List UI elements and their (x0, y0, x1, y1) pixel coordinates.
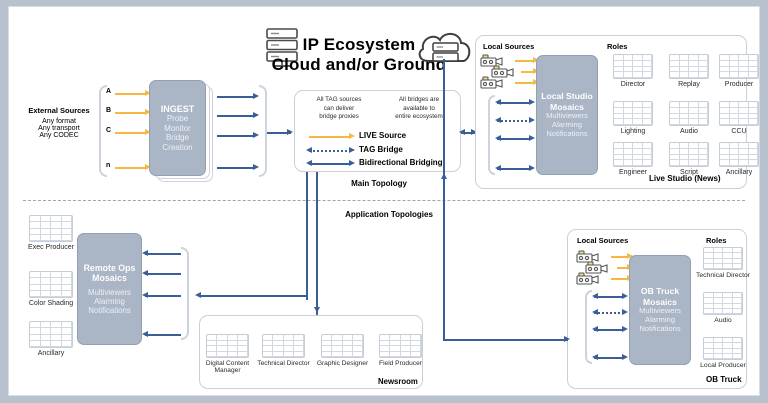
legend-swatch-bidirectional (309, 163, 351, 165)
trunk-to-newsroom-head (314, 307, 320, 313)
role-grid-icon (379, 334, 422, 358)
legend-swatch-tag-bridge (309, 150, 351, 152)
role-label: Lighting (605, 128, 661, 136)
live-studio-bridge-2 (497, 138, 531, 140)
ob-truck-bridge-1-head (622, 309, 628, 315)
newsroom-footer: Newsroom (378, 377, 418, 386)
live-studio-bridge-1-tail (495, 117, 501, 123)
legend-swatch-tag-bridge-head (349, 147, 355, 153)
ob-truck-footer: OB Truck (706, 375, 742, 384)
role-label: Ancillary (19, 350, 83, 358)
live-studio-footer: Live Studio (News) (649, 174, 721, 183)
role-label: Replay (661, 81, 717, 89)
role-grid-icon (613, 54, 653, 79)
ob-truck-bridge-0 (594, 296, 624, 298)
feed-label-a: A (106, 88, 111, 95)
live-arrow-c (115, 132, 147, 134)
role-label: Audio (695, 317, 751, 325)
ob-truck-bridge-2-tail (592, 326, 598, 332)
legend-swatch-live-source-head (349, 133, 355, 139)
legend-note-right-1: available to (381, 105, 457, 114)
role-label: Producer (711, 81, 767, 89)
application-topologies-label: Application Topologies (309, 210, 469, 219)
live-studio-bridge-0-tail (495, 99, 501, 105)
role-label: Director (605, 81, 661, 89)
ingest-box[interactable]: INGEST Probe Monitor Bridge Creation (149, 80, 206, 176)
remote-ops-bridge-0 (145, 253, 181, 255)
ingest-output-brace (259, 85, 267, 177)
role-grid-icon (719, 54, 759, 79)
ob-truck-bridge-3 (594, 357, 624, 359)
ob-truck-mosaic-title-1: OB Truck (641, 286, 679, 296)
remote-ops-mosaic-box[interactable]: Remote Ops Mosaics Multiviewers Alarming… (77, 233, 142, 345)
role-grid-icon (613, 142, 653, 167)
remote-ops-bridge-3-head (142, 331, 148, 337)
ingest-out-arrow-1 (217, 115, 255, 117)
live-studio-mosaic-box[interactable]: Local Studio Mosaics Multiviewers Alarmi… (536, 55, 598, 175)
role-grid-icon (29, 321, 73, 348)
external-sources-title: External Sources (17, 106, 101, 115)
role-grid-icon (613, 101, 653, 126)
role-grid-icon (703, 247, 743, 270)
ingest-line-0: Probe (167, 114, 188, 123)
feed-label-c: C (106, 127, 111, 134)
role-label: Technical Director (254, 360, 313, 367)
live-studio-bridge-3 (497, 168, 531, 170)
trunk-line-center-head (441, 173, 447, 179)
role-grid-icon (719, 101, 759, 126)
live-arrow-b (115, 112, 147, 114)
remote-ops-to-trunk-line (199, 295, 307, 297)
ob-truck-mosaic-sub-2: Notifications (639, 325, 680, 334)
ob-truck-roles-label: Roles (706, 236, 726, 245)
remote-ops-mosaic-sub-2: Notifications (88, 306, 130, 315)
remote-ops-bridge-0-head (142, 250, 148, 256)
camera-icon (575, 272, 609, 287)
legend-note-left-2: bridge proxies (301, 113, 377, 122)
legend-to-live-studio-tail (459, 129, 465, 135)
legend-panel: All TAG sources can deliver bridge proxi… (294, 90, 461, 172)
live-studio-src-arrow-0 (515, 60, 535, 62)
role-label: Graphic Designer (313, 360, 372, 367)
live-studio-bridge-3-tail (495, 165, 501, 171)
live-studio-bridge-0 (497, 102, 531, 104)
role-label: Color Shading (19, 300, 83, 308)
live-studio-mosaic-title-1: Local Studio (541, 91, 593, 101)
external-sources-line-0: Any format (17, 118, 101, 125)
diagram-canvas: IP Ecosystem Cloud and/or Ground Externa… (8, 6, 760, 396)
live-studio-src-arrow-2 (515, 82, 535, 84)
remote-ops-bridge-1 (145, 273, 181, 275)
live-studio-local-sources-label: Local Sources (483, 42, 534, 51)
legend-note-right-2: entire ecosystem (381, 113, 457, 122)
role-grid-icon (29, 271, 73, 298)
legend-swatch-tag-bridge-tail (306, 147, 312, 153)
legend-label-live-source: LIVE Source (359, 131, 406, 140)
feed-label-n: n (106, 162, 110, 169)
trunk-to-ob-truck-head (564, 336, 570, 342)
role-label: Technical Director (695, 272, 751, 280)
camera-icon (479, 76, 513, 91)
ob-truck-bridge-3-tail (592, 354, 598, 360)
role-grid-icon (719, 142, 759, 167)
trunk-line-left-a (306, 172, 308, 300)
live-studio-bridge-2-head (529, 135, 535, 141)
role-label: Audio (661, 128, 717, 136)
role-label: Field Producer (371, 360, 430, 367)
remote-ops-bridge-2-head (142, 292, 148, 298)
trunk-line-center (443, 59, 445, 339)
legend-note-left-1: can deliver (301, 105, 377, 114)
legend-label-tag-bridge: TAG Bridge (359, 145, 403, 154)
live-studio-bridge-1-head (529, 117, 535, 123)
live-studio-bridge-2-tail (495, 135, 501, 141)
main-topology-label: Main Topology (309, 179, 449, 188)
ingest-out-arrow-3 (217, 167, 255, 169)
legend-note-right: All bridges are available to entire ecos… (381, 96, 457, 122)
ob-truck-bridge-0-head (622, 293, 628, 299)
ingest-out-arrow-2 (217, 135, 255, 137)
legend-note-left-0: All TAG sources (301, 96, 377, 105)
ingest-line-2: Bridge (166, 133, 189, 142)
role-grid-icon (703, 292, 743, 315)
live-studio-bridge-1 (497, 120, 531, 122)
external-sources-block: External Sources Any format Any transpor… (17, 106, 101, 139)
ingest-title: INGEST (161, 104, 195, 115)
legend-swatch-bidirectional-head (349, 160, 355, 166)
ob-truck-bridge-2 (594, 329, 624, 331)
live-studio-bridge-0-head (529, 99, 535, 105)
ob-truck-local-sources-label: Local Sources (577, 236, 628, 245)
external-sources-line-1: Any transport (17, 125, 101, 132)
remote-ops-mosaic-title-2: Mosaics (92, 273, 127, 283)
trunk-to-ob-truck-line (443, 339, 568, 341)
ob-truck-bridge-0-tail (592, 293, 598, 299)
remote-ops-bridge-1-head (142, 270, 148, 276)
legend-label-bidirectional: Bidirectional Bridging (359, 158, 443, 167)
legend-swatch-bidirectional-tail (306, 160, 312, 166)
ob-truck-bridge-1 (594, 312, 624, 314)
role-grid-icon (669, 142, 709, 167)
topology-separator (23, 200, 745, 201)
remote-ops-brace (181, 247, 189, 340)
external-sources-line-2: Any CODEC (17, 132, 101, 139)
ob-truck-bridge-brace (585, 290, 592, 364)
role-grid-icon (321, 334, 364, 358)
role-label: Local Producer (695, 362, 751, 370)
live-arrow-a (115, 93, 147, 95)
role-label: Digital Content Manager (198, 360, 257, 375)
legend-swatch-live-source (309, 136, 351, 138)
live-studio-roles-label: Roles (607, 42, 627, 51)
role-grid-icon (703, 337, 743, 360)
remote-ops-mosaic-title-1: Remote Ops (84, 263, 136, 273)
ob-truck-mosaic-box[interactable]: OB Truck Mosaics Multiviewers Alarming N… (629, 255, 691, 365)
role-grid-icon (29, 215, 73, 242)
live-studio-bridge-brace (488, 95, 495, 175)
live-studio-bridge-3-head (529, 165, 535, 171)
role-grid-icon (206, 334, 249, 358)
legend-note-right-0: All bridges are (381, 96, 457, 105)
live-studio-mosaic-sub-2: Notifications (546, 130, 587, 139)
remote-ops-mosaic-sub-0: Multiviewers (88, 288, 131, 297)
role-label: Exec Producer (19, 244, 83, 252)
live-arrow-n (115, 167, 147, 169)
ob-truck-bridge-3-head (622, 354, 628, 360)
role-label: CCU (711, 128, 767, 136)
ingest-line-3: Creation (162, 143, 192, 152)
feed-label-b: B (106, 107, 111, 114)
role-grid-icon (669, 54, 709, 79)
ingest-out-arrow-0 (217, 96, 255, 98)
remote-ops-bridge-2 (145, 295, 181, 297)
ob-truck-bridge-1-tail (592, 309, 598, 315)
remote-ops-to-trunk-head (195, 292, 201, 298)
ob-truck-bridge-2-head (622, 326, 628, 332)
legend-note-left: All TAG sources can deliver bridge proxi… (301, 96, 377, 122)
role-grid-icon (262, 334, 305, 358)
remote-ops-bridge-3 (145, 334, 181, 336)
remote-ops-mosaic-sub-1: Alarming (94, 297, 125, 306)
brace-to-legend-head (287, 129, 293, 135)
ingest-line-1: Monitor (164, 124, 191, 133)
role-grid-icon (669, 101, 709, 126)
